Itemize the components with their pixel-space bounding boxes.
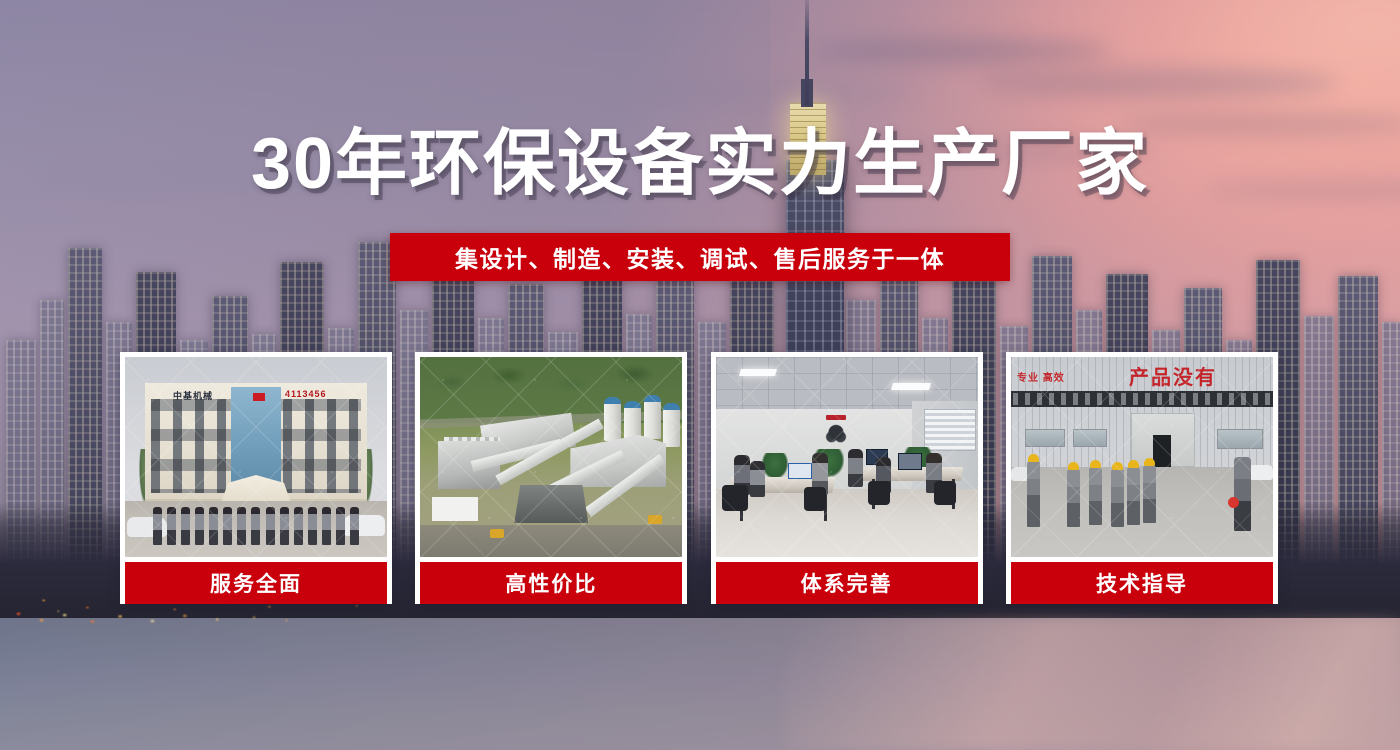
building-sign-text: 中基机械 <box>173 389 213 402</box>
card-photo-workers-factory: 专业 高效 产品没有 <box>1011 357 1273 557</box>
worker-figure <box>1027 461 1040 527</box>
card-label: 服务全面 <box>125 562 387 604</box>
worker-figure <box>1089 467 1102 525</box>
red-helmet-icon <box>1228 497 1239 508</box>
window-blinds <box>924 409 976 451</box>
card-photo-industrial-plant <box>420 357 682 557</box>
shoreline-lights <box>0 606 462 632</box>
tower-antenna <box>805 0 809 105</box>
supervisor-figure <box>1234 457 1251 531</box>
worker-figure <box>1111 469 1124 527</box>
worker-figure <box>1143 465 1156 523</box>
card-label: 高性价比 <box>420 562 682 604</box>
card-label: 体系完善 <box>716 562 978 604</box>
card-photo-office-interior <box>716 357 978 557</box>
page-title: 30年环保设备实力生产厂家 <box>0 128 1400 200</box>
feature-card[interactable]: 专业 高效 产品没有 技术指导 <box>1006 352 1278 604</box>
worker-figure <box>1067 469 1080 527</box>
card-label: 技术指导 <box>1011 562 1273 604</box>
subtitle-banner: 集设计、制造、安装、调试、售后服务于一体 <box>390 233 1010 281</box>
subtitle-text: 集设计、制造、安装、调试、售后服务于一体 <box>455 240 945 274</box>
flag-icon <box>253 393 265 401</box>
building-phone-text: 4113456 <box>285 389 327 399</box>
worker-figure <box>1127 467 1140 525</box>
hero-banner: 30年环保设备实力生产厂家 集设计、制造、安装、调试、售后服务于一体 中基机械 … <box>0 0 1400 750</box>
card-photo-company-building: 中基机械 4113456 <box>125 357 387 557</box>
staff-row <box>153 507 359 547</box>
wall-decal <box>820 415 852 443</box>
factory-slogan-small: 专业 高效 <box>1017 369 1065 384</box>
water-sunset-reflection <box>784 618 1400 750</box>
factory-banner-text: 产品没有 <box>1129 361 1217 390</box>
feature-card[interactable]: 中基机械 4113456 服务全面 <box>120 352 392 604</box>
feature-card[interactable]: 高性价比 <box>415 352 687 604</box>
feature-card-row: 中基机械 4113456 服务全面 <box>120 352 1278 604</box>
feature-card[interactable]: 体系完善 <box>711 352 983 604</box>
